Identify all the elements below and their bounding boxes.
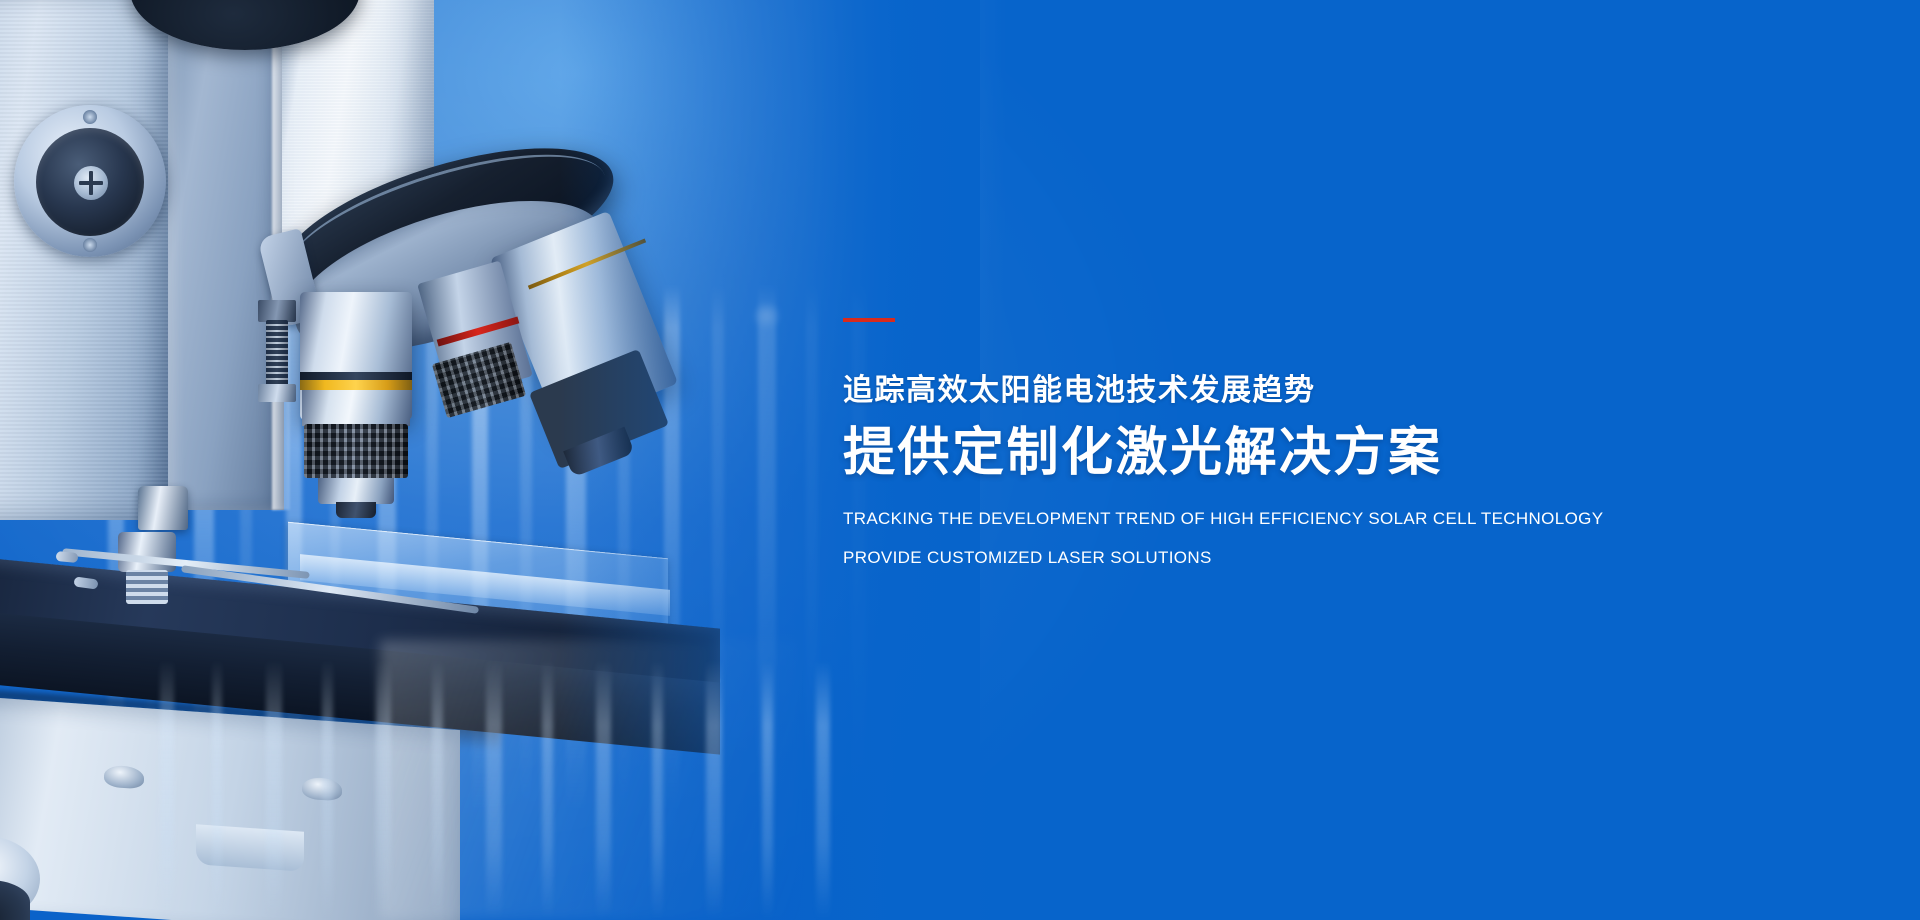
focus-knob-screw: [74, 166, 108, 200]
banner-subtitle-en: TRACKING THE DEVELOPMENT TREND OF HIGH E…: [843, 510, 1663, 527]
objective-lens-front-dark-ring: [300, 372, 412, 380]
objective-lens-front-foot: [318, 478, 394, 504]
stage-clip-post-upper: [138, 486, 188, 530]
objective-lens-front-yellow-ring: [300, 380, 412, 390]
light-streaks-lower: [150, 660, 870, 920]
adjustment-screw-head: [258, 384, 296, 402]
focus-knob-pin-top: [83, 110, 97, 124]
focus-knob-pin-bottom: [83, 238, 97, 252]
objective-lens-front-knurl: [304, 424, 408, 478]
objective-lens-front-tip: [336, 502, 376, 518]
stage-clip-post-lower: [118, 532, 176, 572]
objective-lens-front-midsection: [302, 390, 410, 426]
stage-clip-spring-stack: [126, 570, 168, 604]
accent-rule: [843, 318, 895, 322]
stage-clip-tip-upper: [56, 551, 79, 563]
banner-content: 追踪高效太阳能电池技术发展趋势 提供定制化激光解决方案 TRACKING THE…: [843, 318, 1663, 566]
microscope-arm-plate: [0, 0, 170, 520]
adjustment-screw-post: [258, 300, 296, 322]
banner-title-en: PROVIDE CUSTOMIZED LASER SOLUTIONS: [843, 549, 1663, 566]
hero-banner: 追踪高效太阳能电池技术发展趋势 提供定制化激光解决方案 TRACKING THE…: [0, 0, 1920, 920]
banner-title-cn: 提供定制化激光解决方案: [843, 422, 1663, 484]
adjustment-screw-shaft: [266, 320, 288, 386]
banner-subtitle-cn: 追踪高效太阳能电池技术发展趋势: [843, 372, 1663, 410]
